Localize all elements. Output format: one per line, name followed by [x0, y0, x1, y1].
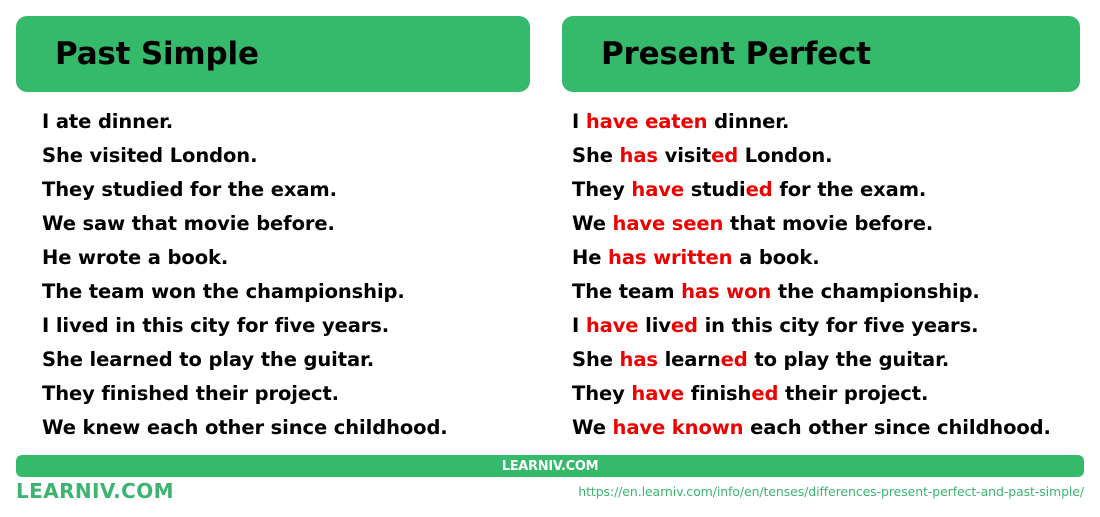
highlighted-verb: ed: [721, 348, 748, 371]
sentence-text: London.: [738, 144, 832, 167]
sentence-item: They finished their project.: [42, 377, 530, 411]
past-simple-header: Past Simple: [16, 16, 530, 92]
highlighted-verb: ed: [671, 314, 698, 337]
sentence-item: They studied for the exam.: [42, 173, 530, 207]
sentence-text: that movie before.: [723, 212, 933, 235]
sentence-text: They finished their project.: [42, 382, 339, 405]
sentence-item: They have finished their project.: [572, 377, 1080, 411]
present-perfect-sentence-list: I have eaten dinner.She has visited Lond…: [562, 92, 1080, 445]
highlighted-verb: ed: [746, 178, 773, 201]
sentence-item: We knew each other since childhood.: [42, 411, 530, 445]
sentence-text: She learned to play the guitar.: [42, 348, 374, 371]
sentence-text: The team won the championship.: [42, 280, 405, 303]
sentence-text: She: [572, 144, 620, 167]
sentence-item: He has written a book.: [572, 241, 1080, 275]
sentence-text: He: [572, 246, 608, 269]
sentence-text: They: [572, 178, 631, 201]
sentence-text: in this city for five years.: [698, 314, 979, 337]
sentence-item: I lived in this city for five years.: [42, 309, 530, 343]
past-simple-sentence-list: I ate dinner.She visited London.They stu…: [16, 92, 530, 445]
sentence-text: I: [572, 314, 586, 337]
sentence-text: He wrote a book.: [42, 246, 228, 269]
footer-bar-label: LEARNIV.COM: [502, 460, 599, 473]
sentence-item: The team won the championship.: [42, 275, 530, 309]
sentence-item: She has visited London.: [572, 139, 1080, 173]
sentence-text: She: [572, 348, 620, 371]
sentence-text: liv: [638, 314, 670, 337]
highlighted-verb: have seen: [613, 212, 724, 235]
highlighted-verb: has: [620, 348, 658, 371]
sentence-text: each other since childhood.: [743, 416, 1050, 439]
sentence-text: I lived in this city for five years.: [42, 314, 389, 337]
sentence-text: to play the guitar.: [748, 348, 949, 371]
sentence-item: We have known each other since childhood…: [572, 411, 1080, 445]
highlighted-verb: ed: [711, 144, 738, 167]
sentence-text: They: [572, 382, 631, 405]
sentence-item: I have eaten dinner.: [572, 105, 1080, 139]
present-perfect-title: Present Perfect: [601, 39, 871, 70]
sentence-text: for the exam.: [773, 178, 927, 201]
sentence-text: visit: [658, 144, 711, 167]
highlighted-verb: has: [620, 144, 658, 167]
sentence-text: I ate dinner.: [42, 110, 173, 133]
sentence-text: the championship.: [771, 280, 980, 303]
comparison-columns: Past Simple I ate dinner.She visited Lon…: [0, 0, 1100, 447]
brand-logo: LEARNIV.COM: [16, 481, 174, 501]
sentence-text: finish: [684, 382, 751, 405]
sentence-text: We: [572, 416, 613, 439]
sentence-text: The team: [572, 280, 681, 303]
sentence-text: studi: [684, 178, 746, 201]
sentence-text: We saw that movie before.: [42, 212, 335, 235]
highlighted-verb: have known: [613, 416, 744, 439]
sentence-text: They studied for the exam.: [42, 178, 337, 201]
highlighted-verb: has written: [608, 246, 732, 269]
sentence-text: their project.: [778, 382, 928, 405]
sentence-item: He wrote a book.: [42, 241, 530, 275]
sentence-text: dinner.: [707, 110, 789, 133]
highlighted-verb: have: [586, 314, 639, 337]
past-simple-title: Past Simple: [55, 39, 259, 70]
highlighted-verb: has won: [681, 280, 771, 303]
sentence-item: We saw that movie before.: [42, 207, 530, 241]
present-perfect-column: Present Perfect I have eaten dinner.She …: [546, 0, 1100, 447]
source-url: https://en.learniv.com/info/en/tenses/di…: [578, 486, 1084, 499]
sentence-item: I ate dinner.: [42, 105, 530, 139]
highlighted-verb: have: [631, 382, 684, 405]
past-simple-column: Past Simple I ate dinner.She visited Lon…: [0, 0, 546, 447]
sentence-item: She visited London.: [42, 139, 530, 173]
sentence-item: They have studied for the exam.: [572, 173, 1080, 207]
sentence-text: learn: [658, 348, 721, 371]
present-perfect-header: Present Perfect: [562, 16, 1080, 92]
sentence-text: a book.: [732, 246, 819, 269]
sentence-text: We: [572, 212, 613, 235]
sentence-text: We knew each other since childhood.: [42, 416, 448, 439]
highlighted-verb: ed: [751, 382, 778, 405]
tense-comparison-infographic: Past Simple I ate dinner.She visited Lon…: [0, 0, 1100, 517]
sentence-item: She has learned to play the guitar.: [572, 343, 1080, 377]
footer-brand-bar: LEARNIV.COM: [16, 455, 1084, 477]
highlighted-verb: have: [631, 178, 684, 201]
sentence-item: The team has won the championship.: [572, 275, 1080, 309]
sentence-text: I: [572, 110, 586, 133]
sentence-text: She visited London.: [42, 144, 257, 167]
sentence-item: We have seen that movie before.: [572, 207, 1080, 241]
sentence-item: I have lived in this city for five years…: [572, 309, 1080, 343]
sentence-item: She learned to play the guitar.: [42, 343, 530, 377]
highlighted-verb: have eaten: [586, 110, 708, 133]
